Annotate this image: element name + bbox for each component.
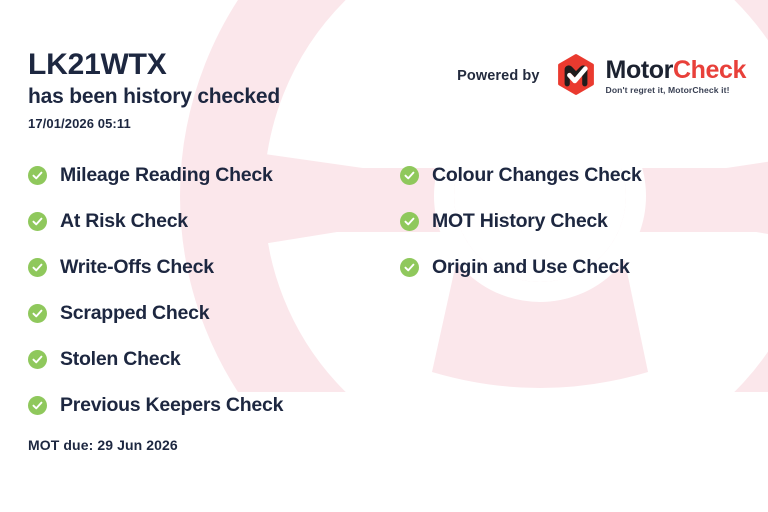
check-item-write-offs: Write-Offs Check (28, 244, 400, 290)
check-item-mileage-reading: Mileage Reading Check (28, 152, 400, 198)
check-item-label: Scrapped Check (60, 302, 209, 325)
wordmark-motor: Motor (606, 56, 673, 84)
wordmark-check: Check (673, 56, 746, 84)
check-item-at-risk: At Risk Check (28, 198, 400, 244)
check-item-label: Write-Offs Check (60, 256, 214, 279)
checks-container: Mileage Reading Check At Risk Check Writ… (28, 152, 740, 428)
check-item-previous-keepers: Previous Keepers Check (28, 382, 400, 428)
check-item-label: Mileage Reading Check (60, 164, 273, 187)
brand-bar: Powered by MotorCheck Don't regret it, M… (457, 54, 746, 98)
check-item-stolen: Stolen Check (28, 336, 400, 382)
check-item-scrapped: Scrapped Check (28, 290, 400, 336)
check-circle-icon (28, 258, 47, 277)
history-check-summary-card: LK21WTX has been history checked 17/01/2… (0, 0, 768, 512)
check-item-label: Origin and Use Check (432, 256, 630, 279)
checks-right-column: Colour Changes Check MOT History Check O… (400, 152, 740, 428)
check-item-label: At Risk Check (60, 210, 188, 233)
check-item-mot-history: MOT History Check (400, 198, 740, 244)
check-item-colour-changes: Colour Changes Check (400, 152, 740, 198)
check-circle-icon (28, 304, 47, 323)
check-circle-icon (400, 258, 419, 277)
powered-by-label: Powered by (457, 68, 539, 84)
check-item-label: Previous Keepers Check (60, 394, 283, 417)
check-circle-icon (400, 166, 419, 185)
check-circle-icon (400, 212, 419, 231)
mot-due-label: MOT due: 29 Jun 2026 (28, 437, 178, 453)
check-item-label: Stolen Check (60, 348, 181, 371)
check-circle-icon (28, 166, 47, 185)
brand-tagline: Don't regret it, MotorCheck it! (606, 86, 746, 95)
title-block: LK21WTX has been history checked 17/01/2… (28, 48, 280, 131)
check-circle-icon (28, 396, 47, 415)
check-item-label: Colour Changes Check (432, 164, 642, 187)
motorcheck-wordmark: MotorCheck Don't regret it, MotorCheck i… (606, 58, 746, 95)
motorcheck-logo[interactable]: MotorCheck Don't regret it, MotorCheck i… (554, 54, 746, 98)
vehicle-registration-plate: LK21WTX (28, 48, 280, 83)
check-circle-icon (28, 350, 47, 369)
wordmark-text: MotorCheck (606, 58, 746, 83)
check-circle-icon (28, 212, 47, 231)
page-subtitle: has been history checked (28, 84, 280, 110)
check-item-label: MOT History Check (432, 210, 608, 233)
motorcheck-hexagon-logo-icon (554, 54, 598, 98)
check-item-origin-and-use: Origin and Use Check (400, 244, 740, 290)
check-timestamp: 17/01/2026 05:11 (28, 116, 280, 131)
checks-left-column: Mileage Reading Check At Risk Check Writ… (28, 152, 400, 428)
